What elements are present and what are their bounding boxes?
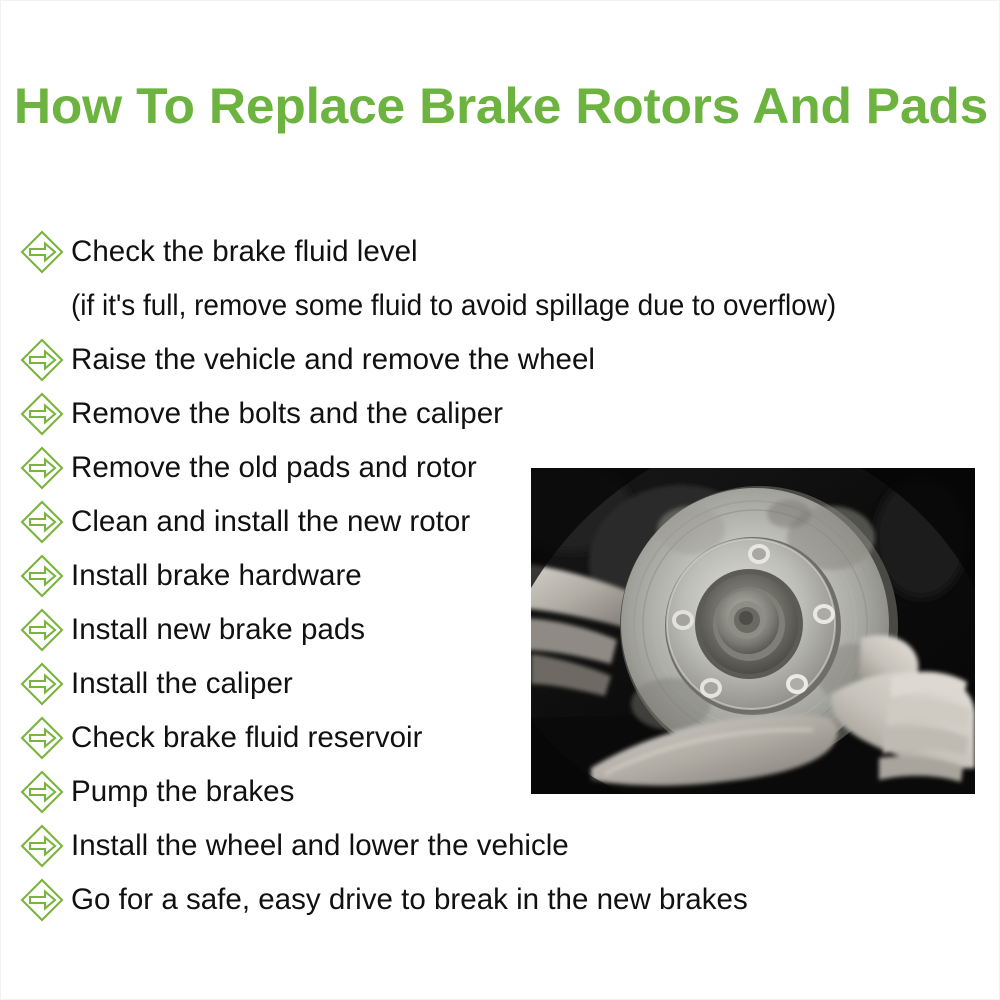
step-label: Go for a safe, easy drive to break in th… (71, 883, 748, 917)
step-label: Pump the brakes (71, 775, 294, 809)
green-diamond-arrow-icon (19, 553, 65, 599)
step-note: (if it's full, remove some fluid to avoi… (19, 279, 979, 333)
brake-rotor-photo-graphic (531, 468, 975, 794)
infographic-page: How To Replace Brake Rotors And Pads Che… (0, 0, 1000, 1000)
step-label: Install brake hardware (71, 559, 362, 593)
page-title: How To Replace Brake Rotors And Pads (0, 77, 1000, 135)
step-label: Check the brake fluid level (71, 235, 418, 269)
step-label: Remove the bolts and the caliper (71, 397, 503, 431)
green-diamond-arrow-icon (19, 877, 65, 923)
green-diamond-arrow-icon (19, 661, 65, 707)
green-diamond-arrow-icon (19, 769, 65, 815)
step-label: Clean and install the new rotor (71, 505, 470, 539)
step-label: Check brake fluid reservoir (71, 721, 422, 755)
step-label: Raise the vehicle and remove the wheel (71, 343, 595, 377)
step-item: Raise the vehicle and remove the wheel (19, 333, 979, 387)
green-diamond-arrow-icon (19, 715, 65, 761)
step-label: Install the wheel and lower the vehicle (71, 829, 569, 863)
green-diamond-arrow-icon (19, 607, 65, 653)
green-diamond-arrow-icon (19, 229, 65, 275)
green-diamond-arrow-icon (19, 337, 65, 383)
step-label: Install new brake pads (71, 613, 365, 647)
brake-rotor-photo (531, 468, 975, 794)
step-note-label: (if it's full, remove some fluid to avoi… (71, 289, 836, 323)
step-label: Install the caliper (71, 667, 293, 701)
green-diamond-arrow-icon (19, 391, 65, 437)
green-diamond-arrow-icon (19, 823, 65, 869)
step-item: Install the wheel and lower the vehicle (19, 819, 979, 873)
green-diamond-arrow-icon (19, 499, 65, 545)
bullet-spacer (19, 283, 65, 329)
step-label: Remove the old pads and rotor (71, 451, 477, 485)
green-diamond-arrow-icon (19, 445, 65, 491)
step-item: Check the brake fluid level (19, 225, 979, 279)
step-item: Go for a safe, easy drive to break in th… (19, 873, 979, 927)
step-item: Remove the bolts and the caliper (19, 387, 979, 441)
